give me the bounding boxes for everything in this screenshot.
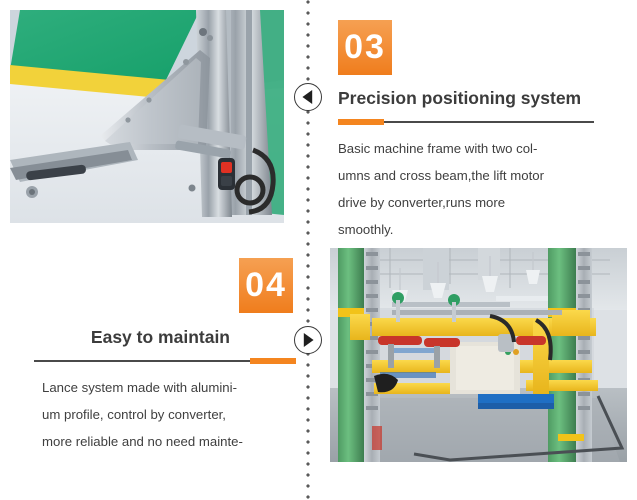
- section-number-04: 04: [245, 266, 287, 305]
- section-rule-03: [338, 119, 594, 125]
- section-number-03: 03: [344, 28, 386, 67]
- machine-detail-illustration: [10, 10, 284, 223]
- body-line: Basic machine frame with two col-: [338, 135, 594, 162]
- arrow-right-glyph: [295, 327, 321, 353]
- section-body-03: Basic machine frame with two col- umns a…: [338, 135, 594, 243]
- section-easy-to-maintain: Easy to maintain Lance system made with …: [34, 325, 296, 455]
- section-precision-positioning-system: Precision positioning system Basic machi…: [338, 86, 594, 243]
- arrow-right-icon[interactable]: [294, 326, 322, 354]
- rule-accent: [250, 358, 296, 364]
- arrow-left-glyph: [295, 84, 321, 110]
- section-rule-04: [34, 358, 296, 364]
- vertical-dotted-divider: [306, 0, 310, 500]
- factory-gantry-illustration: [330, 248, 627, 462]
- body-line: um profile, control by converter,: [42, 401, 296, 428]
- arrow-left-icon[interactable]: [294, 83, 322, 111]
- body-line: drive by converter,runs more: [338, 189, 594, 216]
- section-number-badge-04: 04: [239, 258, 293, 313]
- section-title-03: Precision positioning system: [338, 86, 594, 110]
- rule-accent: [338, 119, 384, 125]
- section-body-04: Lance system made with alumini- um profi…: [34, 374, 296, 455]
- body-line: smoothly.: [338, 216, 594, 243]
- factory-gantry-photo: [330, 248, 627, 462]
- body-line: Lance system made with alumini-: [42, 374, 296, 401]
- section-title-04: Easy to maintain: [34, 325, 296, 349]
- section-number-badge-03: 03: [338, 20, 392, 75]
- body-line: umns and cross beam,the lift motor: [338, 162, 594, 189]
- body-line: more reliable and no need mainte-: [42, 428, 296, 455]
- machine-detail-photo: [10, 10, 284, 223]
